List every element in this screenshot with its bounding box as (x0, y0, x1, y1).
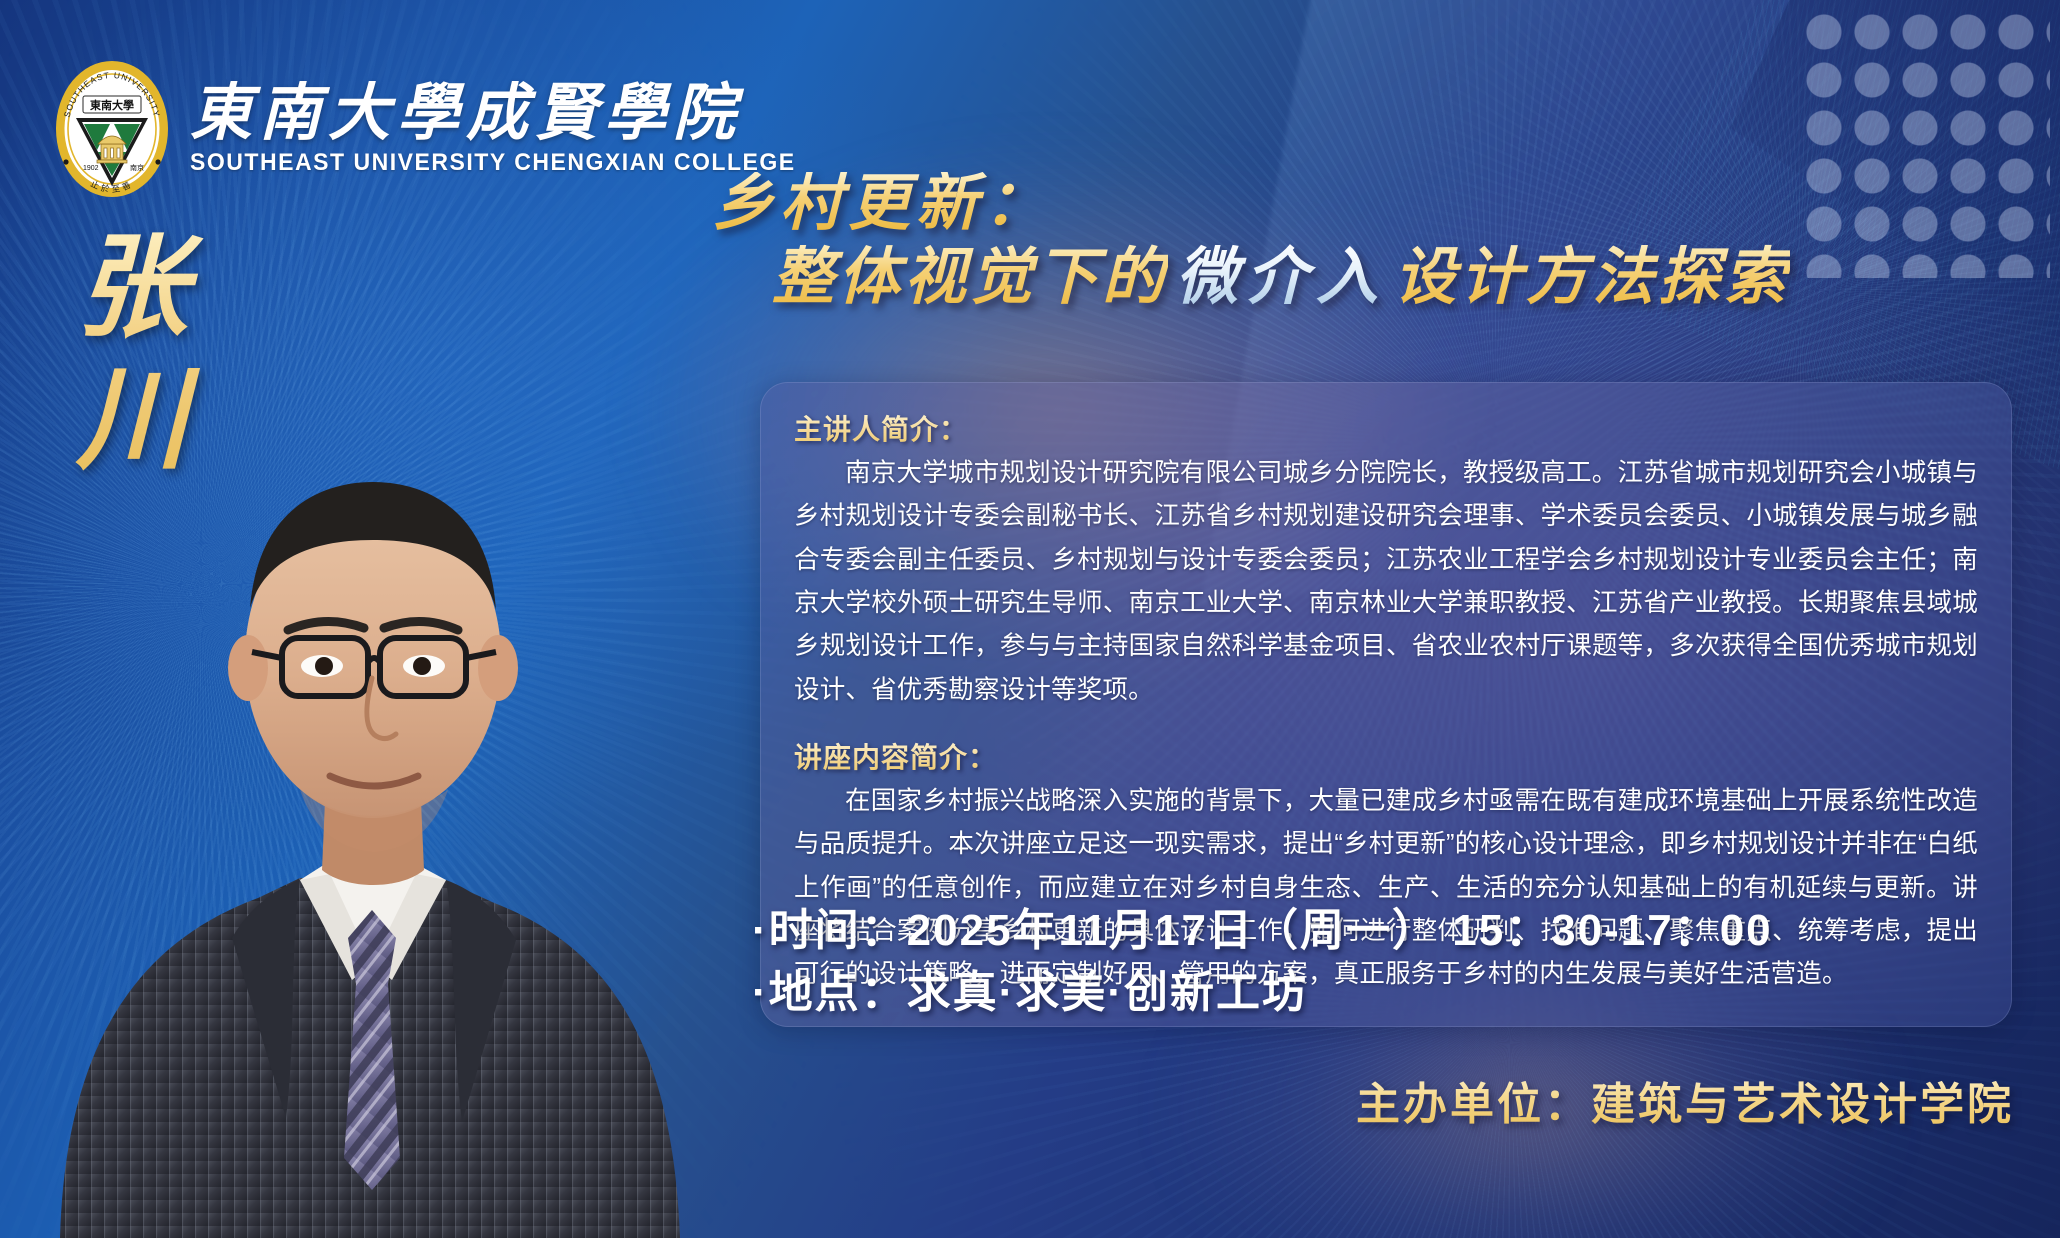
svg-text:1902: 1902 (83, 165, 99, 172)
event-details: ·时间：2025年11月17日（周一） 15：30-17：00 ·地点：求真·求… (752, 900, 1952, 1025)
logo-wordmark: 東南大學成賢學院 SOUTHEAST UNIVERSITY CHENGXIAN … (190, 81, 834, 177)
lecture-abstract-heading: 讲座内容简介： (794, 736, 1978, 776)
speaker-bio-text: 南京大学城市规划设计研究院有限公司城乡分院院长，教授级高工。江苏省城市规划研究会… (794, 452, 1978, 712)
event-time-row: ·时间：2025年11月17日（周一） 15：30-17：00 (752, 900, 1952, 962)
title-line-2: 整体视觉下的微介入设计方法探索 (772, 246, 2045, 308)
host-organization: 主办单位：建筑与艺术设计学院 (1356, 1068, 2014, 1132)
speaker-name-calligraphy: 张川 (48, 222, 218, 486)
event-time-label: ·时间： (752, 906, 907, 955)
title-gold-segment-b: 设计方法探索 (1394, 240, 1790, 313)
event-time-value: 2025年11月17日（周一） 15：30-17：00 (907, 906, 1773, 955)
lecture-title: 乡村更新： 整体视觉下的微介入设计方法探索 (700, 172, 2045, 308)
title-line-1: 乡村更新： (712, 172, 2045, 234)
event-place-row: ·地点：求真·求美·创新工坊 (752, 962, 1952, 1024)
svg-text:東南大學: 東南大學 (90, 98, 134, 112)
university-seal-icon: SOUTHEAST UNIVERSITY 東南大學 1902 (52, 58, 172, 200)
logo-chinese-name: 東南大學成賢學院 (190, 81, 834, 144)
poster-root: SOUTHEAST UNIVERSITY 東南大學 1902 (0, 0, 2060, 1238)
title-gold-segment-a: 整体视觉下的 (772, 240, 1168, 313)
title-white-segment: 微介入 (1168, 240, 1394, 313)
svg-text:南京: 南京 (130, 163, 144, 172)
speaker-bio-heading: 主讲人简介： (794, 408, 1978, 448)
event-place-label: ·地点： (752, 968, 907, 1017)
event-place-value: 求真·求美·创新工坊 (907, 968, 1308, 1017)
